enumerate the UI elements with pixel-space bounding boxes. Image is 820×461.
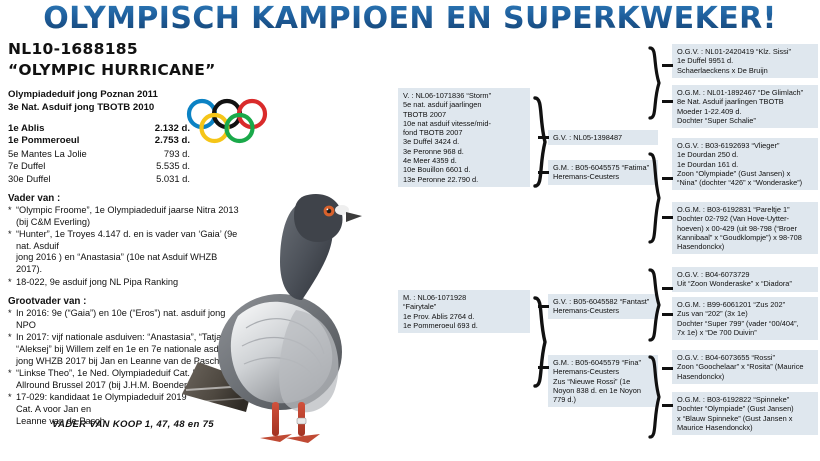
- pigeon-photo: [176, 150, 376, 461]
- pedigree-box-ogm-1: O.G.M. : NL01-1892467 “De Glimlach” 8e N…: [672, 85, 818, 128]
- gen2-3-line-1: Heremans-Ceusters: [553, 367, 654, 376]
- sire-line-6: 3e Peronne 968 d.: [403, 147, 526, 156]
- pedigree-box-ogm-4: O.G.M. : B03-6192822 “Spinneke” Dochter …: [672, 392, 818, 435]
- list-item-line: 18-022, 9e asduif jong NL Pipa Ranking: [16, 277, 178, 287]
- gen3-3-line-0: O.G.M. : B03-6192831 “Pareltje 1”: [677, 205, 814, 214]
- pedigree-box-ogv-3: O.G.V. : B04-6073729 Uit “Zoon Wonderask…: [672, 267, 818, 292]
- table-row: 5e Mantes La Jolie 793 d.: [8, 148, 190, 160]
- gen3-3-line-2: hoeven) x 00-429 (uit 98-798 (“Broer: [677, 224, 814, 233]
- sire-line-7: 4e Meer 4359 d.: [403, 156, 526, 165]
- gen3-7-line-1: Dochter “Olympiade” (Gust Jansen): [677, 404, 814, 413]
- pedigree-box-ogv-2: O.G.V. : B03-6192693 “Vlieger” 1e Dourda…: [672, 138, 818, 190]
- connector-tick: [662, 404, 673, 407]
- result-place: 30e Duffel: [8, 173, 134, 185]
- gen3-2-line-2: 1e Dourdan 161 d.: [677, 160, 814, 169]
- brace-gm-dam: [648, 355, 662, 439]
- gen3-3-line-4: Hasendonckx): [677, 242, 814, 251]
- dam-line-1: “Fairytale”: [403, 302, 526, 311]
- ring-id: NL10-1688185: [8, 40, 244, 58]
- sire-line-3: 10e nat asduif vitesse/mid-: [403, 119, 526, 128]
- table-row: 1e Ablis 2.132 d.: [8, 123, 190, 135]
- table-row: 1e Pommeroeul 2.753 d.: [8, 135, 190, 147]
- result-place: 7e Duffel: [8, 160, 134, 172]
- pedigree-box-dam: M. : NL06-1071928 “Fairytale” 1e Prov. A…: [398, 290, 530, 333]
- pedigree-box-ogv-1: O.G.V. : NL01-2420419 “Klz. Sissi” 1e Du…: [672, 44, 818, 78]
- gen3-7-line-0: O.G.M. : B03-6192822 “Spinneke”: [677, 395, 814, 404]
- brace-sire: [533, 96, 549, 188]
- connector-tick: [538, 171, 549, 174]
- result-place: 1e Ablis: [8, 123, 134, 135]
- gen3-6-line-0: O.G.V. : B04-6073655 “Rossi”: [677, 353, 814, 362]
- gen3-4-line-1: Uit “Zoon Wonderaske” x “Diadora”: [677, 279, 814, 288]
- gen3-2-line-1: 1e Dourdan 250 d.: [677, 150, 814, 159]
- pedigree-box-ogv-4: O.G.V. : B04-6073655 “Rossi” Zoon “Gooch…: [672, 350, 818, 384]
- connector-tick: [538, 305, 549, 308]
- gen3-1-line-3: Dochter “Super Schalie”: [677, 116, 814, 125]
- gen3-2-line-3: Zoon “Olympiade” (Gust Jansen) x: [677, 169, 814, 178]
- sire-line-4: fond TBOTB 2007: [403, 128, 526, 137]
- brace-gv-sire: [648, 46, 662, 120]
- gen2-1-line-0: G.M. : B05-6045575 “Fatima”: [553, 163, 654, 172]
- connector-tick: [662, 287, 673, 290]
- gen2-2-line-0: G.V. : B05-6045582 “Fantast”: [553, 297, 654, 306]
- result-value: 2.753 d.: [134, 135, 190, 147]
- gen2-3-line-3: Noyon 838 d. en 1e Noyon: [553, 386, 654, 395]
- pigeon-name: “OLYMPIC HURRICANE”: [8, 61, 244, 79]
- brace-gm-sire: [648, 152, 662, 244]
- pedigree-box-gv-sire: G.V. : NL05-1398487: [548, 130, 658, 145]
- connector-tick: [662, 64, 673, 67]
- result-value: 2.132 d.: [134, 123, 190, 135]
- result-place: 5e Mantes La Jolie: [8, 148, 134, 160]
- brace-dam: [533, 296, 549, 388]
- pedigree-box-gm-dam: G.M. : B05-6045579 “Fina” Heremans-Ceust…: [548, 355, 658, 407]
- pedigree-box-gm-sire: G.M. : B05-6045575 “Fatima” Heremans-Ceu…: [548, 160, 658, 185]
- table-row: 30e Duffel 5.031 d.: [8, 173, 190, 185]
- connector-tick: [662, 100, 673, 103]
- dam-line-3: 1e Pommeroeul 693 d.: [403, 321, 526, 330]
- connector-tick: [662, 177, 673, 180]
- gen2-3-line-4: 779 d.): [553, 395, 654, 404]
- pedigree-box-gv-dam: G.V. : B05-6045582 “Fantast” Heremans-Ce…: [548, 294, 658, 319]
- gen3-0-line-0: O.G.V. : NL01-2420419 “Klz. Sissi”: [677, 47, 814, 56]
- pedigree-document: OLYMPISCH KAMPIOEN EN SUPERKWEKER! NL10-…: [0, 0, 820, 461]
- gen3-5-line-2: Dochter “Super 799” (vader “00/404”,: [677, 319, 814, 328]
- gen3-1-line-2: Moeder 1-22.409 d.: [677, 107, 814, 116]
- gen3-0-line-2: Schaerlaeckens x De Bruijn: [677, 66, 814, 75]
- results-table: 1e Ablis 2.132 d. 1e Pommeroeul 2.753 d.…: [8, 123, 190, 185]
- olympic-rings-icon: [186, 96, 268, 148]
- gen2-3-line-2: Zus “Nieuwe Rossi” (1e: [553, 377, 654, 386]
- document-banner: OLYMPISCH KAMPIOEN EN SUPERKWEKER!: [0, 0, 820, 36]
- gen3-3-line-3: Kannibaal” x “Goudklompje”) x 98-708: [677, 233, 814, 242]
- gen3-0-line-1: 1e Duffel 9951 d.: [677, 56, 814, 65]
- connector-tick: [662, 313, 673, 316]
- page-title: OLYMPISCH KAMPIOEN EN SUPERKWEKER!: [43, 1, 776, 36]
- sire-line-5: 3e Duffel 3424 d.: [403, 137, 526, 146]
- sire-line-1: 5e nat. asduif jaarlingen: [403, 100, 526, 109]
- connector-tick: [662, 367, 673, 370]
- gen3-6-line-1: Zoon “Goochelaar” x “Rosita” (Maurice: [677, 362, 814, 371]
- connector-tick: [662, 216, 673, 219]
- gen3-1-line-1: 8e Nat. Asduif jaarlingen TBOTB: [677, 97, 814, 106]
- gen2-0-line-0: G.V. : NL05-1398487: [553, 133, 654, 142]
- gen3-2-line-4: “Nina” (dochter “426” x “Wonderaske”): [677, 178, 814, 187]
- sire-line-2: TBOTB 2007: [403, 110, 526, 119]
- list-item-line: “Linkse Theo”, 1e Ned. Olympiadeduif Cat…: [16, 368, 199, 378]
- pedigree-box-ogm-3: O.G.M. : B99-6061201 “Zus 202” Zus van “…: [672, 297, 818, 340]
- gen2-3-line-0: G.M. : B05-6045579 “Fina”: [553, 358, 654, 367]
- gen3-3-line-1: Dochter 02-792 (Van Hove-Uytter-: [677, 214, 814, 223]
- gen3-6-line-2: Hasendonckx): [677, 372, 814, 381]
- gen2-2-line-1: Heremans-Ceusters: [553, 306, 654, 315]
- pedigree-box-ogm-2: O.G.M. : B03-6192831 “Pareltje 1” Dochte…: [672, 202, 818, 254]
- table-row: 7e Duffel 5.535 d.: [8, 160, 190, 172]
- gen3-4-line-0: O.G.V. : B04-6073729: [677, 270, 814, 279]
- gen3-2-line-0: O.G.V. : B03-6192693 “Vlieger”: [677, 141, 814, 150]
- gen2-1-line-1: Heremans-Ceusters: [553, 172, 654, 181]
- gen3-5-line-1: Zus van “202” (3x 1e): [677, 309, 814, 318]
- gen3-1-line-0: O.G.M. : NL01-1892467 “De Glimlach”: [677, 88, 814, 97]
- list-item-line: 17-029: kandidaat 1e Olympiadeduif 2019: [16, 392, 187, 402]
- connector-tick: [538, 366, 549, 369]
- dam-line-2: 1e Prov. Ablis 2764 d.: [403, 312, 526, 321]
- brace-gv-dam: [648, 268, 662, 342]
- dam-line-0: M. : NL06-1071928: [403, 293, 526, 302]
- gen3-5-line-3: 7x 1e) x “De 700 Duivin”: [677, 328, 814, 337]
- result-place: 1e Pommeroeul: [8, 135, 134, 147]
- sire-line-8: 10e Bouillon 6601 d.: [403, 165, 526, 174]
- connector-tick: [538, 136, 549, 139]
- sire-line-0: V. : NL06-1071836 “Storm”: [403, 91, 526, 100]
- pedigree-box-sire: V. : NL06-1071836 “Storm” 5e nat. asduif…: [398, 88, 530, 187]
- sire-line-9: 13e Peronne 22.790 d.: [403, 175, 526, 184]
- gen3-7-line-2: x “Blauw Spinneke” (Gust Jansen x: [677, 414, 814, 423]
- gen3-5-line-0: O.G.M. : B99-6061201 “Zus 202”: [677, 300, 814, 309]
- gen3-7-line-3: Maurice Hasendonckx): [677, 423, 814, 432]
